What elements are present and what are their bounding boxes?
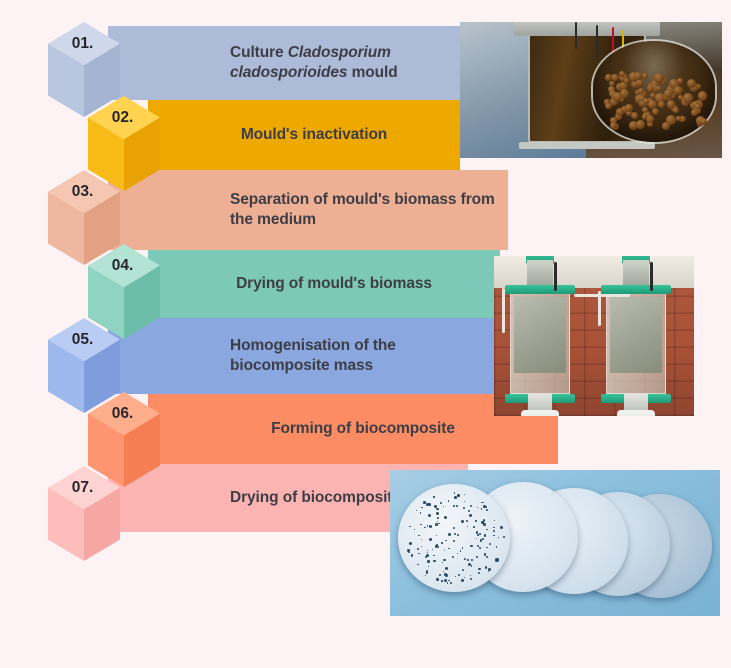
step-number-07: 07. xyxy=(72,479,94,497)
step-number-02: 02. xyxy=(112,109,134,127)
step-label-06: Forming of biocomposite xyxy=(148,419,558,439)
step-label-01: Culture Cladosporium cladosporioides mou… xyxy=(108,43,460,84)
step-number-04: 04. xyxy=(112,257,134,275)
step-bar-01: Culture Cladosporium cladosporioides mou… xyxy=(108,26,460,100)
step-label-04: Drying of mould's biomass xyxy=(148,274,500,294)
step-number-03: 03. xyxy=(72,183,94,201)
step-label-02: Mould's inactivation xyxy=(148,125,460,145)
step-number-01: 01. xyxy=(72,35,94,53)
step-cube-07: 07. xyxy=(48,466,120,581)
step-label-03: Separation of mould's biomass from the m… xyxy=(108,190,508,231)
photo-filtration-columns xyxy=(494,256,694,416)
step-number-06: 06. xyxy=(112,405,134,423)
step-bar-02: Mould's inactivation xyxy=(148,100,460,170)
photo-biocomposite-discs xyxy=(390,470,720,616)
step-bar-05: Homogenisation of the biocomposite mass xyxy=(108,318,494,394)
step-bar-04: Drying of mould's biomass xyxy=(148,250,500,318)
step-number-05: 05. xyxy=(72,331,94,349)
step-bar-03: Separation of mould's biomass from the m… xyxy=(108,170,508,250)
infographic-canvas: Culture Cladosporium cladosporioides mou… xyxy=(0,0,731,668)
species-name: Cladosporium cladosporioides xyxy=(230,44,391,81)
photo-bioreactor-and-petri-dish xyxy=(460,22,722,158)
step-label-05: Homogenisation of the biocomposite mass xyxy=(108,336,494,377)
